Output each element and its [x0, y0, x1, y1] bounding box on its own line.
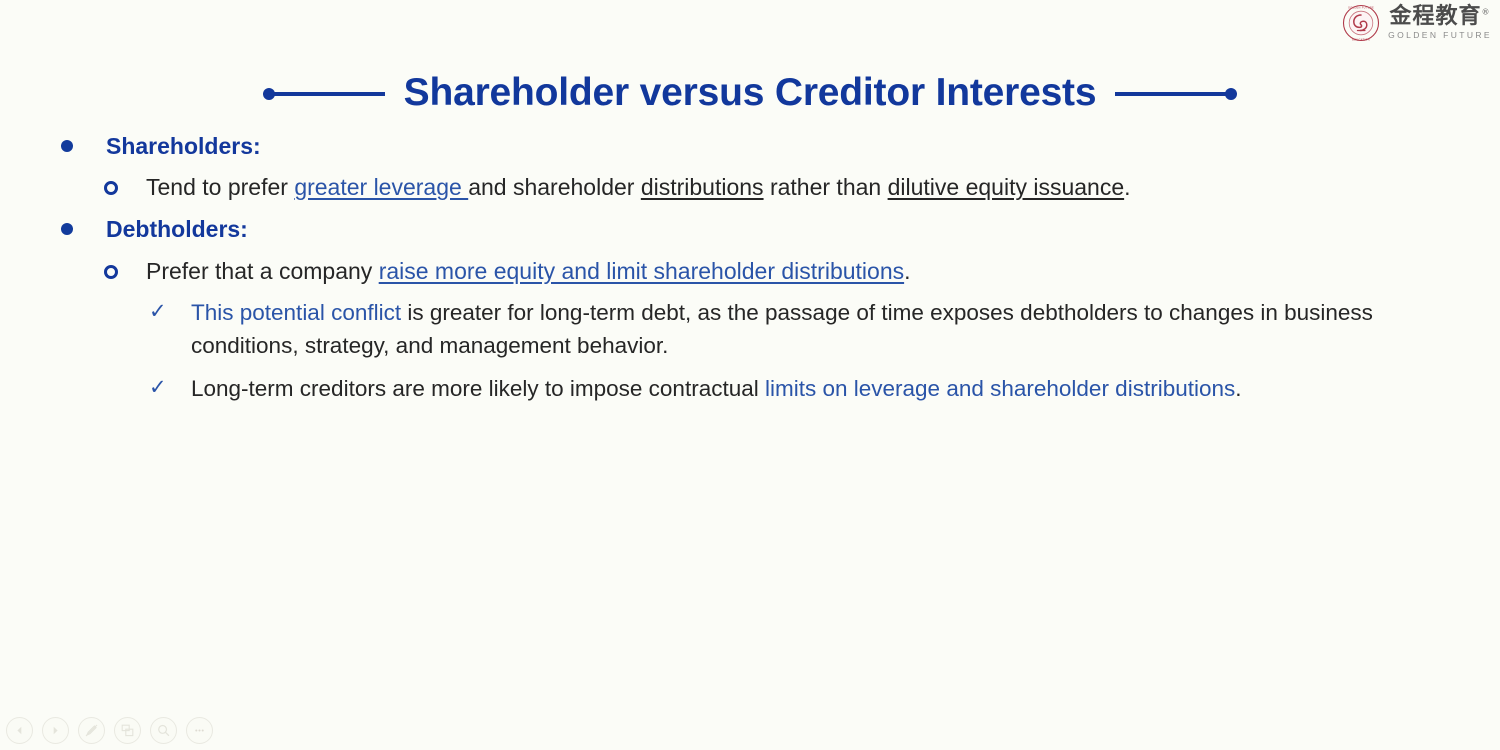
svg-text:GOLDEN FUTURE: GOLDEN FUTURE [1348, 5, 1374, 9]
section-heading-shareholders: Shareholders: [0, 126, 1500, 166]
magnifier-icon [156, 723, 171, 738]
hollow-circle-bullet-icon [0, 172, 146, 195]
pen-icon [84, 723, 99, 738]
title-rule-dot-right [1225, 88, 1237, 100]
brand-logo: GOLDEN FUTURE EDUCATION 金程教育® GOLDEN FUT… [1342, 4, 1492, 42]
run-text: Long-term creditors are more likely to i… [191, 376, 765, 401]
disc-bullet-icon [0, 131, 106, 152]
bullet-debtholders-preference: Prefer that a company raise more equity … [0, 250, 1500, 293]
section-heading-label: Debtholders: [106, 214, 248, 244]
brand-name-en: GOLDEN FUTURE [1388, 31, 1492, 40]
run-text: . [1235, 376, 1241, 401]
ellipsis-icon [192, 723, 207, 738]
bullet-text: Prefer that a company raise more equity … [146, 256, 911, 287]
more-options-button[interactable] [186, 717, 213, 744]
title-rule-left [263, 84, 385, 104]
disc-bullet-icon [0, 214, 106, 235]
run-text: rather than [764, 174, 888, 200]
link-raise-more-equity[interactable]: raise more equity and limit shareholder … [379, 258, 904, 284]
link-greater-leverage[interactable]: greater leverage [294, 174, 468, 200]
section-heading-debtholders: Debtholders: [0, 209, 1500, 249]
run-text: . [904, 258, 910, 284]
title-rule-bar-left [273, 92, 385, 96]
subbullet-potential-conflict: ✓ This potential conflict is greater for… [0, 292, 1500, 367]
next-slide-button[interactable] [42, 717, 69, 744]
golden-future-seal-icon: GOLDEN FUTURE EDUCATION [1342, 4, 1380, 42]
highlight-limits-on-leverage: limits on leverage and shareholder distr… [765, 376, 1235, 401]
caret-left-icon [13, 724, 26, 737]
svg-text:EDUCATION: EDUCATION [1352, 37, 1370, 41]
hollow-circle-bullet-icon [0, 256, 146, 279]
run-text: Prefer that a company [146, 258, 379, 284]
subbullet-text: Long-term creditors are more likely to i… [191, 373, 1242, 406]
bullet-text: Tend to prefer greater leverage and shar… [146, 172, 1131, 203]
subbullet-long-term-creditors: ✓ Long-term creditors are more likely to… [0, 368, 1500, 411]
emphasis-dilutive-equity-issuance: dilutive equity issuance [888, 174, 1125, 200]
bullet-shareholders-preference: Tend to prefer greater leverage and shar… [0, 166, 1500, 209]
page-title: Shareholder versus Creditor Interests [385, 72, 1116, 115]
slides-icon [120, 723, 135, 738]
slide-overview-button[interactable] [114, 717, 141, 744]
run-text: and shareholder [468, 174, 641, 200]
run-text: . [1124, 174, 1130, 200]
highlight-this-potential-conflict: This potential conflict [191, 300, 401, 325]
pen-annotate-button[interactable] [78, 717, 105, 744]
registered-trademark-mark: ® [1482, 8, 1491, 17]
subbullet-text: This potential conflict is greater for l… [191, 297, 1411, 362]
title-rule-bar-right [1115, 92, 1227, 96]
emphasis-distributions: distributions [641, 174, 764, 200]
checkmark-bullet-icon: ✓ [0, 373, 191, 403]
previous-slide-button[interactable] [6, 717, 33, 744]
run-text: Tend to prefer [146, 174, 294, 200]
slide-content: Shareholders: Tend to prefer greater lev… [0, 126, 1500, 410]
brand-name-cn: 金程教育® [1390, 6, 1491, 28]
section-heading-label: Shareholders: [106, 131, 261, 161]
title-rule-right [1115, 84, 1237, 104]
player-toolbar [6, 717, 213, 744]
zoom-search-button[interactable] [150, 717, 177, 744]
checkmark-bullet-icon: ✓ [0, 297, 191, 327]
caret-right-icon [49, 724, 62, 737]
